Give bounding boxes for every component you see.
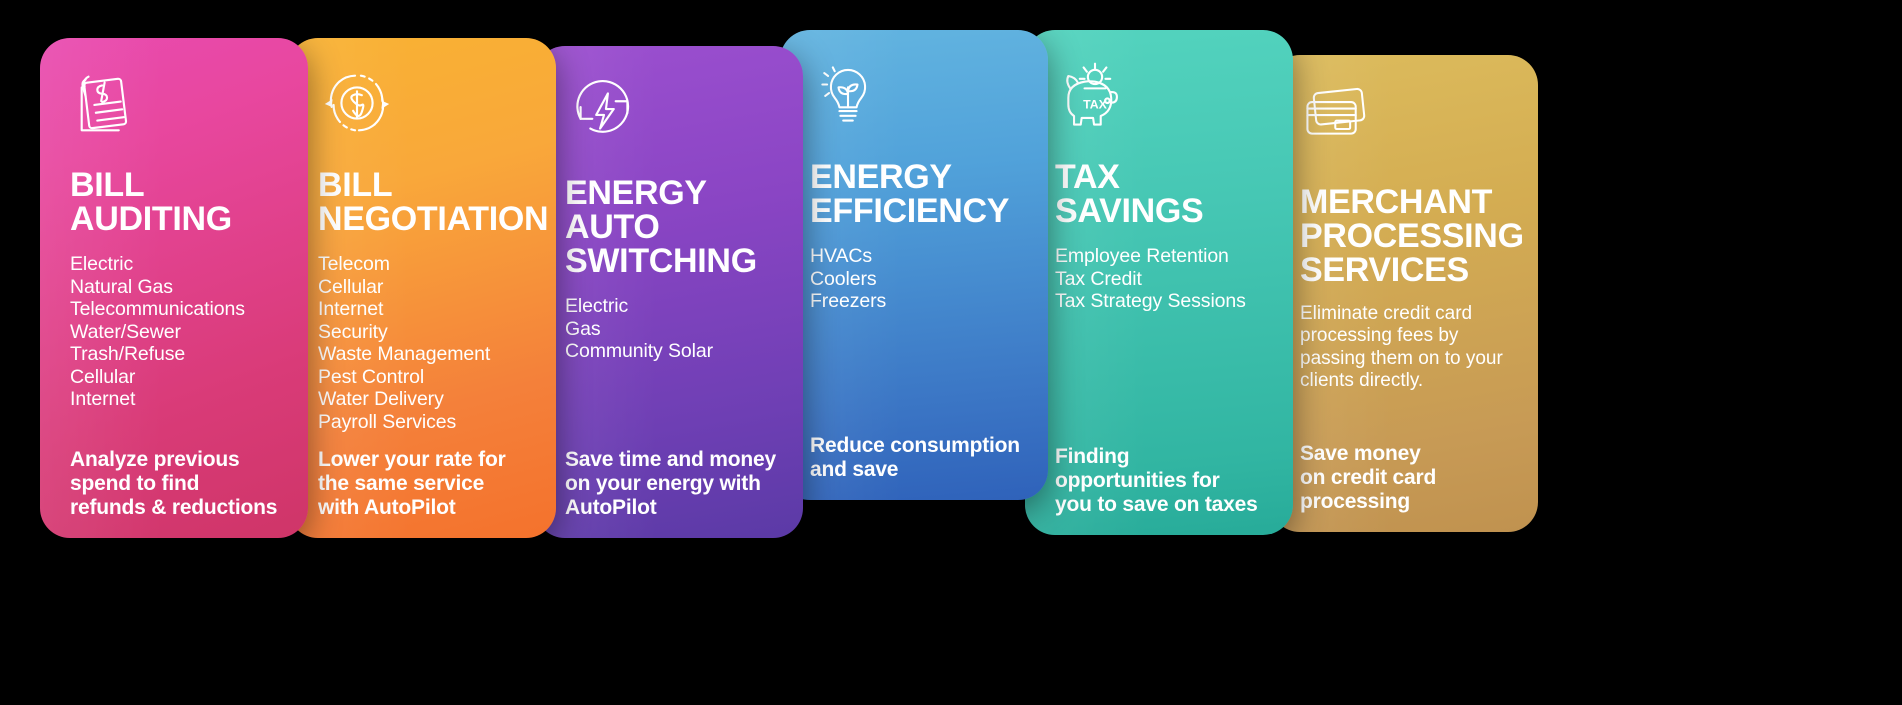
list-item: Water Delivery	[318, 389, 542, 412]
card-title: MERCHANT PROCESSING SERVICES	[1300, 185, 1524, 287]
card-tagline: Save money on credit card processing	[1300, 442, 1524, 514]
list-item: Gas	[565, 319, 789, 342]
list-item: Pest Control	[318, 367, 542, 390]
list-item: Employee Retention	[1055, 246, 1279, 269]
list-item: Electric	[565, 296, 789, 319]
list-item: Security	[318, 322, 542, 345]
list-item: Telecommunications	[70, 299, 294, 322]
service-card-bill-auditing[interactable]: BILL AUDITING Electric Natural Gas Telec…	[40, 38, 308, 538]
service-card-energy-auto-switching[interactable]: ENERGY AUTO SWITCHING Electric Gas Commu…	[535, 46, 803, 538]
list-item: Cellular	[318, 277, 542, 300]
invoice-dollar-icon	[70, 64, 294, 156]
list-item: Electric	[70, 254, 294, 277]
list-item: Trash/Refuse	[70, 344, 294, 367]
list-item: Natural Gas	[70, 277, 294, 300]
card-tagline: Reduce consumption and save	[810, 434, 1034, 482]
list-item: Community Solar	[565, 341, 789, 364]
refresh-bolt-icon	[565, 72, 789, 164]
panel-background: BILL AUDITING Electric Natural Gas Telec…	[0, 0, 1902, 705]
card-title: ENERGY AUTO SWITCHING	[565, 176, 789, 278]
card-title: BILL NEGOTIATION	[318, 168, 542, 236]
list-item: Internet	[318, 299, 542, 322]
service-card-merchant-processing-services[interactable]: MERCHANT PROCESSING SERVICES Eliminate c…	[1270, 55, 1538, 532]
card-tagline: Finding opportunities for you to save on…	[1055, 445, 1279, 517]
svg-text:TAX: TAX	[1083, 97, 1108, 111]
service-list: Telecom Cellular Internet Security Waste…	[318, 254, 542, 434]
service-list: Electric Natural Gas Telecommunications …	[70, 254, 294, 412]
list-item: Tax Credit	[1055, 269, 1279, 292]
card-tagline: Lower your rate for the same service wit…	[318, 448, 542, 520]
list-item: Tax Strategy Sessions	[1055, 291, 1279, 314]
service-list: Electric Gas Community Solar	[565, 296, 789, 364]
list-item: Water/Sewer	[70, 322, 294, 345]
piggy-bank-tax-icon: TAX	[1055, 56, 1279, 148]
list-item: Coolers	[810, 269, 1034, 292]
card-title: BILL AUDITING	[70, 168, 294, 236]
card-tagline: Save time and money on your energy with …	[565, 448, 789, 520]
service-card-energy-efficiency[interactable]: ENERGY EFFICIENCY HVACs Coolers Freezers…	[780, 30, 1048, 500]
card-description: Eliminate credit card processing fees by…	[1300, 303, 1515, 393]
list-item: HVACs	[810, 246, 1034, 269]
list-item: Waste Management	[318, 344, 542, 367]
card-title: TAX SAVINGS	[1055, 160, 1279, 228]
service-list: Employee Retention Tax Credit Tax Strate…	[1055, 246, 1279, 314]
list-item: Freezers	[810, 291, 1034, 314]
list-item: Internet	[70, 389, 294, 412]
list-item: Payroll Services	[318, 412, 542, 435]
card-tagline: Analyze previous spend to find refunds &…	[70, 448, 294, 520]
service-list: HVACs Coolers Freezers	[810, 246, 1034, 314]
credit-cards-icon	[1300, 81, 1524, 173]
service-card-tax-savings[interactable]: TAX TAX SAVINGS Employee Retention Tax C…	[1025, 30, 1293, 535]
list-item: Telecom	[318, 254, 542, 277]
lightbulb-leaf-icon	[810, 56, 1034, 148]
service-card-bill-negotiation[interactable]: BILL NEGOTIATION Telecom Cellular Intern…	[288, 38, 556, 538]
refresh-dollar-icon	[318, 64, 542, 156]
list-item: Cellular	[70, 367, 294, 390]
card-title: ENERGY EFFICIENCY	[810, 160, 1034, 228]
